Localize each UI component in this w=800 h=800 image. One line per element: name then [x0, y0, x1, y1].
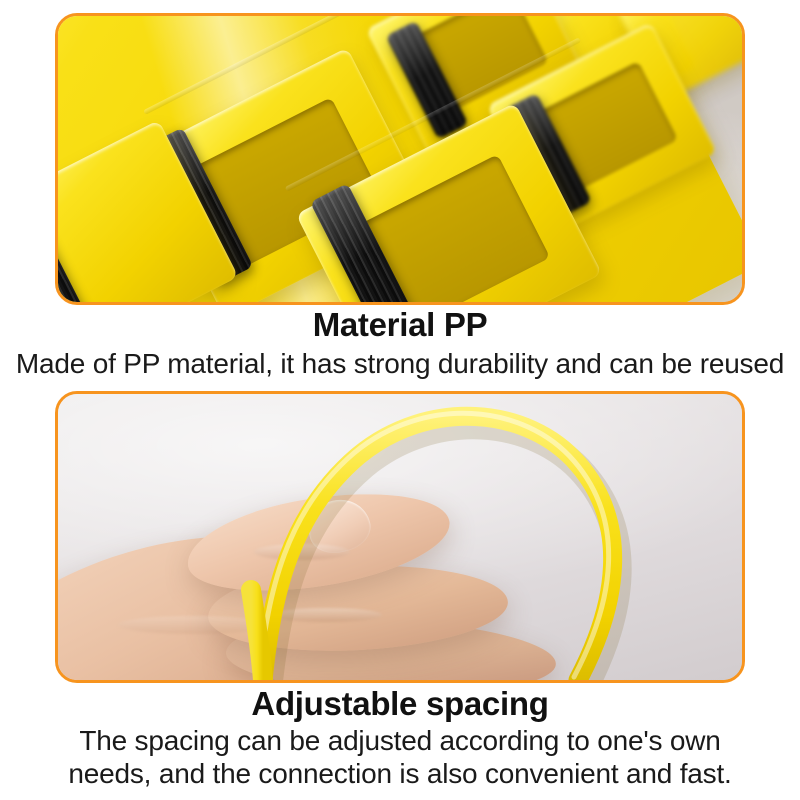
- spacing-description-line-2: needs, and the connection is also conven…: [0, 757, 800, 790]
- yellow-flexible-strip: [58, 394, 742, 680]
- product-feature-page: Material PP Made of PP material, it has …: [0, 0, 800, 800]
- spacing-title: Adjustable spacing: [0, 686, 800, 722]
- material-description: Made of PP material, it has strong durab…: [0, 347, 800, 380]
- hand-bending-yellow-strip-photo: [58, 394, 742, 680]
- spacing-description: The spacing can be adjusted according to…: [0, 724, 800, 790]
- spacing-description-line-1: The spacing can be adjusted according to…: [0, 724, 800, 757]
- spacing-photo-panel: [55, 391, 745, 683]
- material-photo-panel: [55, 13, 745, 305]
- material-title: Material PP: [0, 307, 800, 343]
- yellow-pp-blocks-with-black-strap-photo: [58, 16, 742, 302]
